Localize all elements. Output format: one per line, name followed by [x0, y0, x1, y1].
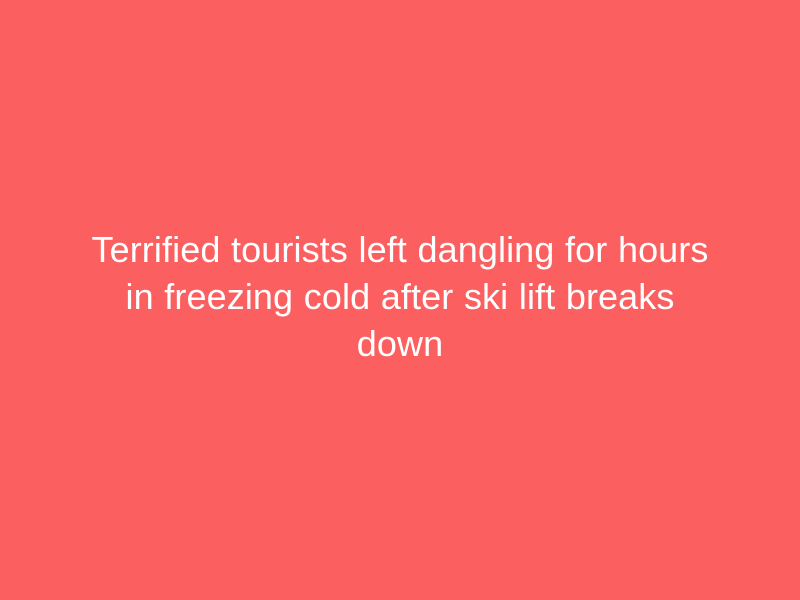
headline-block: Terrified tourists left dangling for hou… — [90, 226, 710, 367]
headline-title: Terrified tourists left dangling for hou… — [90, 226, 710, 367]
headline-card: Terrified tourists left dangling for hou… — [0, 0, 800, 600]
